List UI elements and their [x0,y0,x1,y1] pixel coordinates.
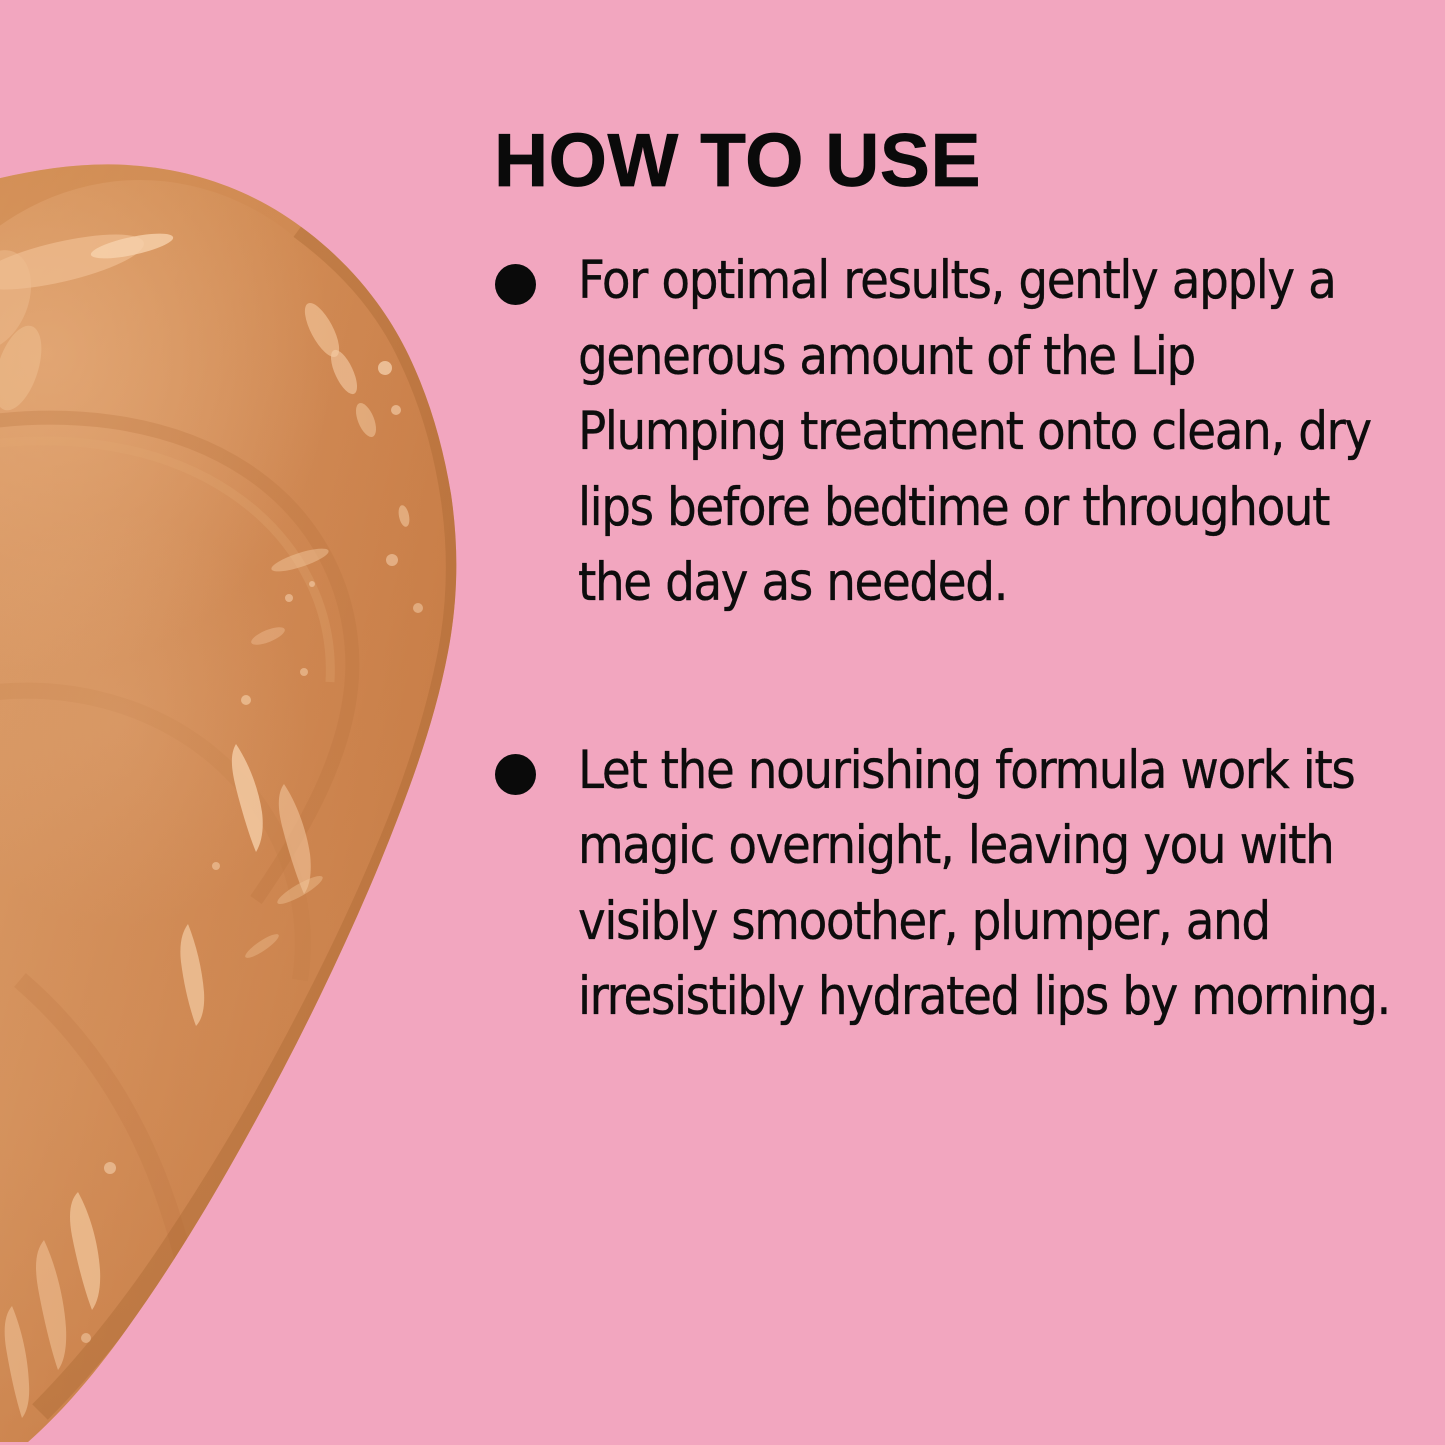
instructions-list: For optimal results, gently apply a gene… [490,243,1390,1035]
instruction-text: Let the nourishing formula work its magi… [578,733,1390,1035]
list-item: Let the nourishing formula work its magi… [490,733,1390,1035]
bullet-dot-icon [495,264,536,305]
bullet-dot-icon [495,754,536,795]
product-swatch-image [0,0,520,1445]
cream-swatch-svg [0,0,520,1445]
instruction-text: For optimal results, gently apply a gene… [578,243,1390,621]
page-title: HOW TO USE [494,123,981,198]
how-to-use-panel: HOW TO USE For optimal results, gently a… [0,0,1445,1445]
list-item: For optimal results, gently apply a gene… [490,243,1390,621]
instructions-column: HOW TO USE For optimal results, gently a… [490,0,1390,1445]
swatch-body [0,150,520,1445]
